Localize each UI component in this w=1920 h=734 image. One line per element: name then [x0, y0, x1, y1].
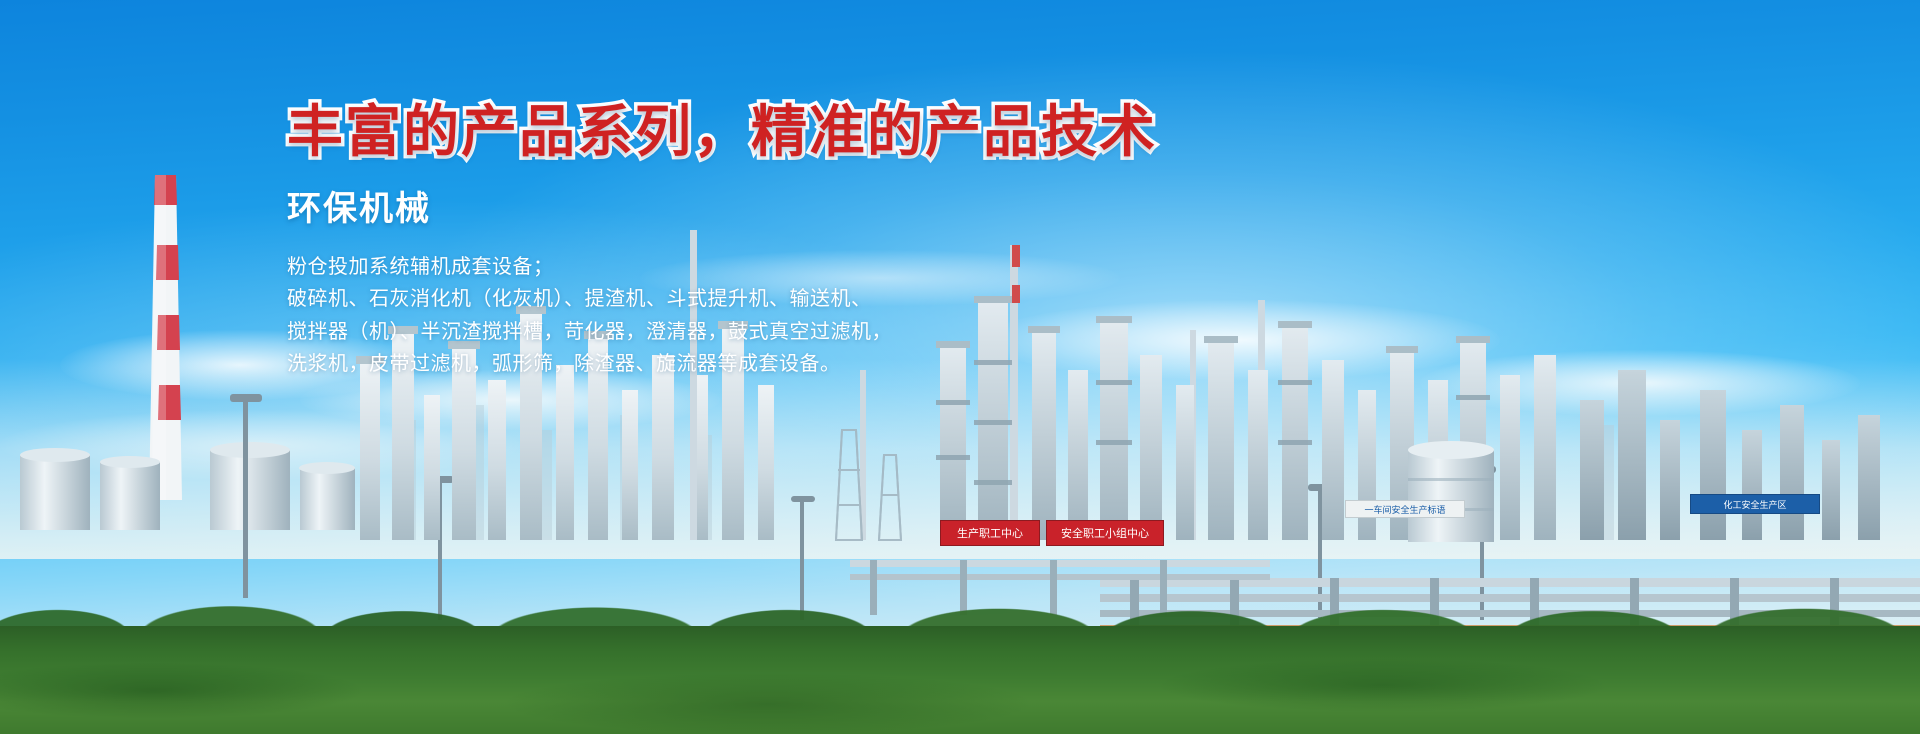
banner-copy: 丰富的产品系列，精准的产品技术 环保机械 粉仓投加系统辅机成套设备； 破碎机、石…	[287, 104, 1267, 379]
factory-sign-3: 化工安全生产区	[1690, 494, 1820, 514]
factory-sign-2: 安全职工小组中心	[1046, 520, 1164, 546]
banner-description: 粉仓投加系统辅机成套设备； 破碎机、石灰消化机（化灰机）、提渣机、斗式提升机、输…	[287, 250, 1267, 380]
factory-sign-4: 一车间安全生产标语	[1345, 500, 1465, 518]
description-line-2: 破碎机、石灰消化机（化灰机）、提渣机、斗式提升机、输送机、	[287, 282, 1267, 314]
description-line-4: 洗浆机，皮带过滤机，弧形筛，除渣器、旋流器等成套设备。	[287, 347, 1267, 379]
treeline	[0, 498, 1920, 638]
description-line-3: 搅拌器（机）、半沉渣搅拌槽，苛化器，澄清器，鼓式真空过滤机，	[287, 315, 1267, 347]
striped-chimney	[149, 175, 182, 500]
banner-headline: 丰富的产品系列，精准的产品技术	[287, 104, 1267, 163]
hero-banner: 生产职工中心 安全职工小组中心 化工安全生产区 一车间安全生产标语 丰富的产品系…	[0, 0, 1920, 734]
description-line-1: 粉仓投加系统辅机成套设备；	[287, 250, 1267, 282]
banner-subtitle: 环保机械	[287, 181, 1267, 230]
ground-shading	[0, 626, 1920, 734]
factory-sign-1: 生产职工中心	[940, 520, 1040, 546]
